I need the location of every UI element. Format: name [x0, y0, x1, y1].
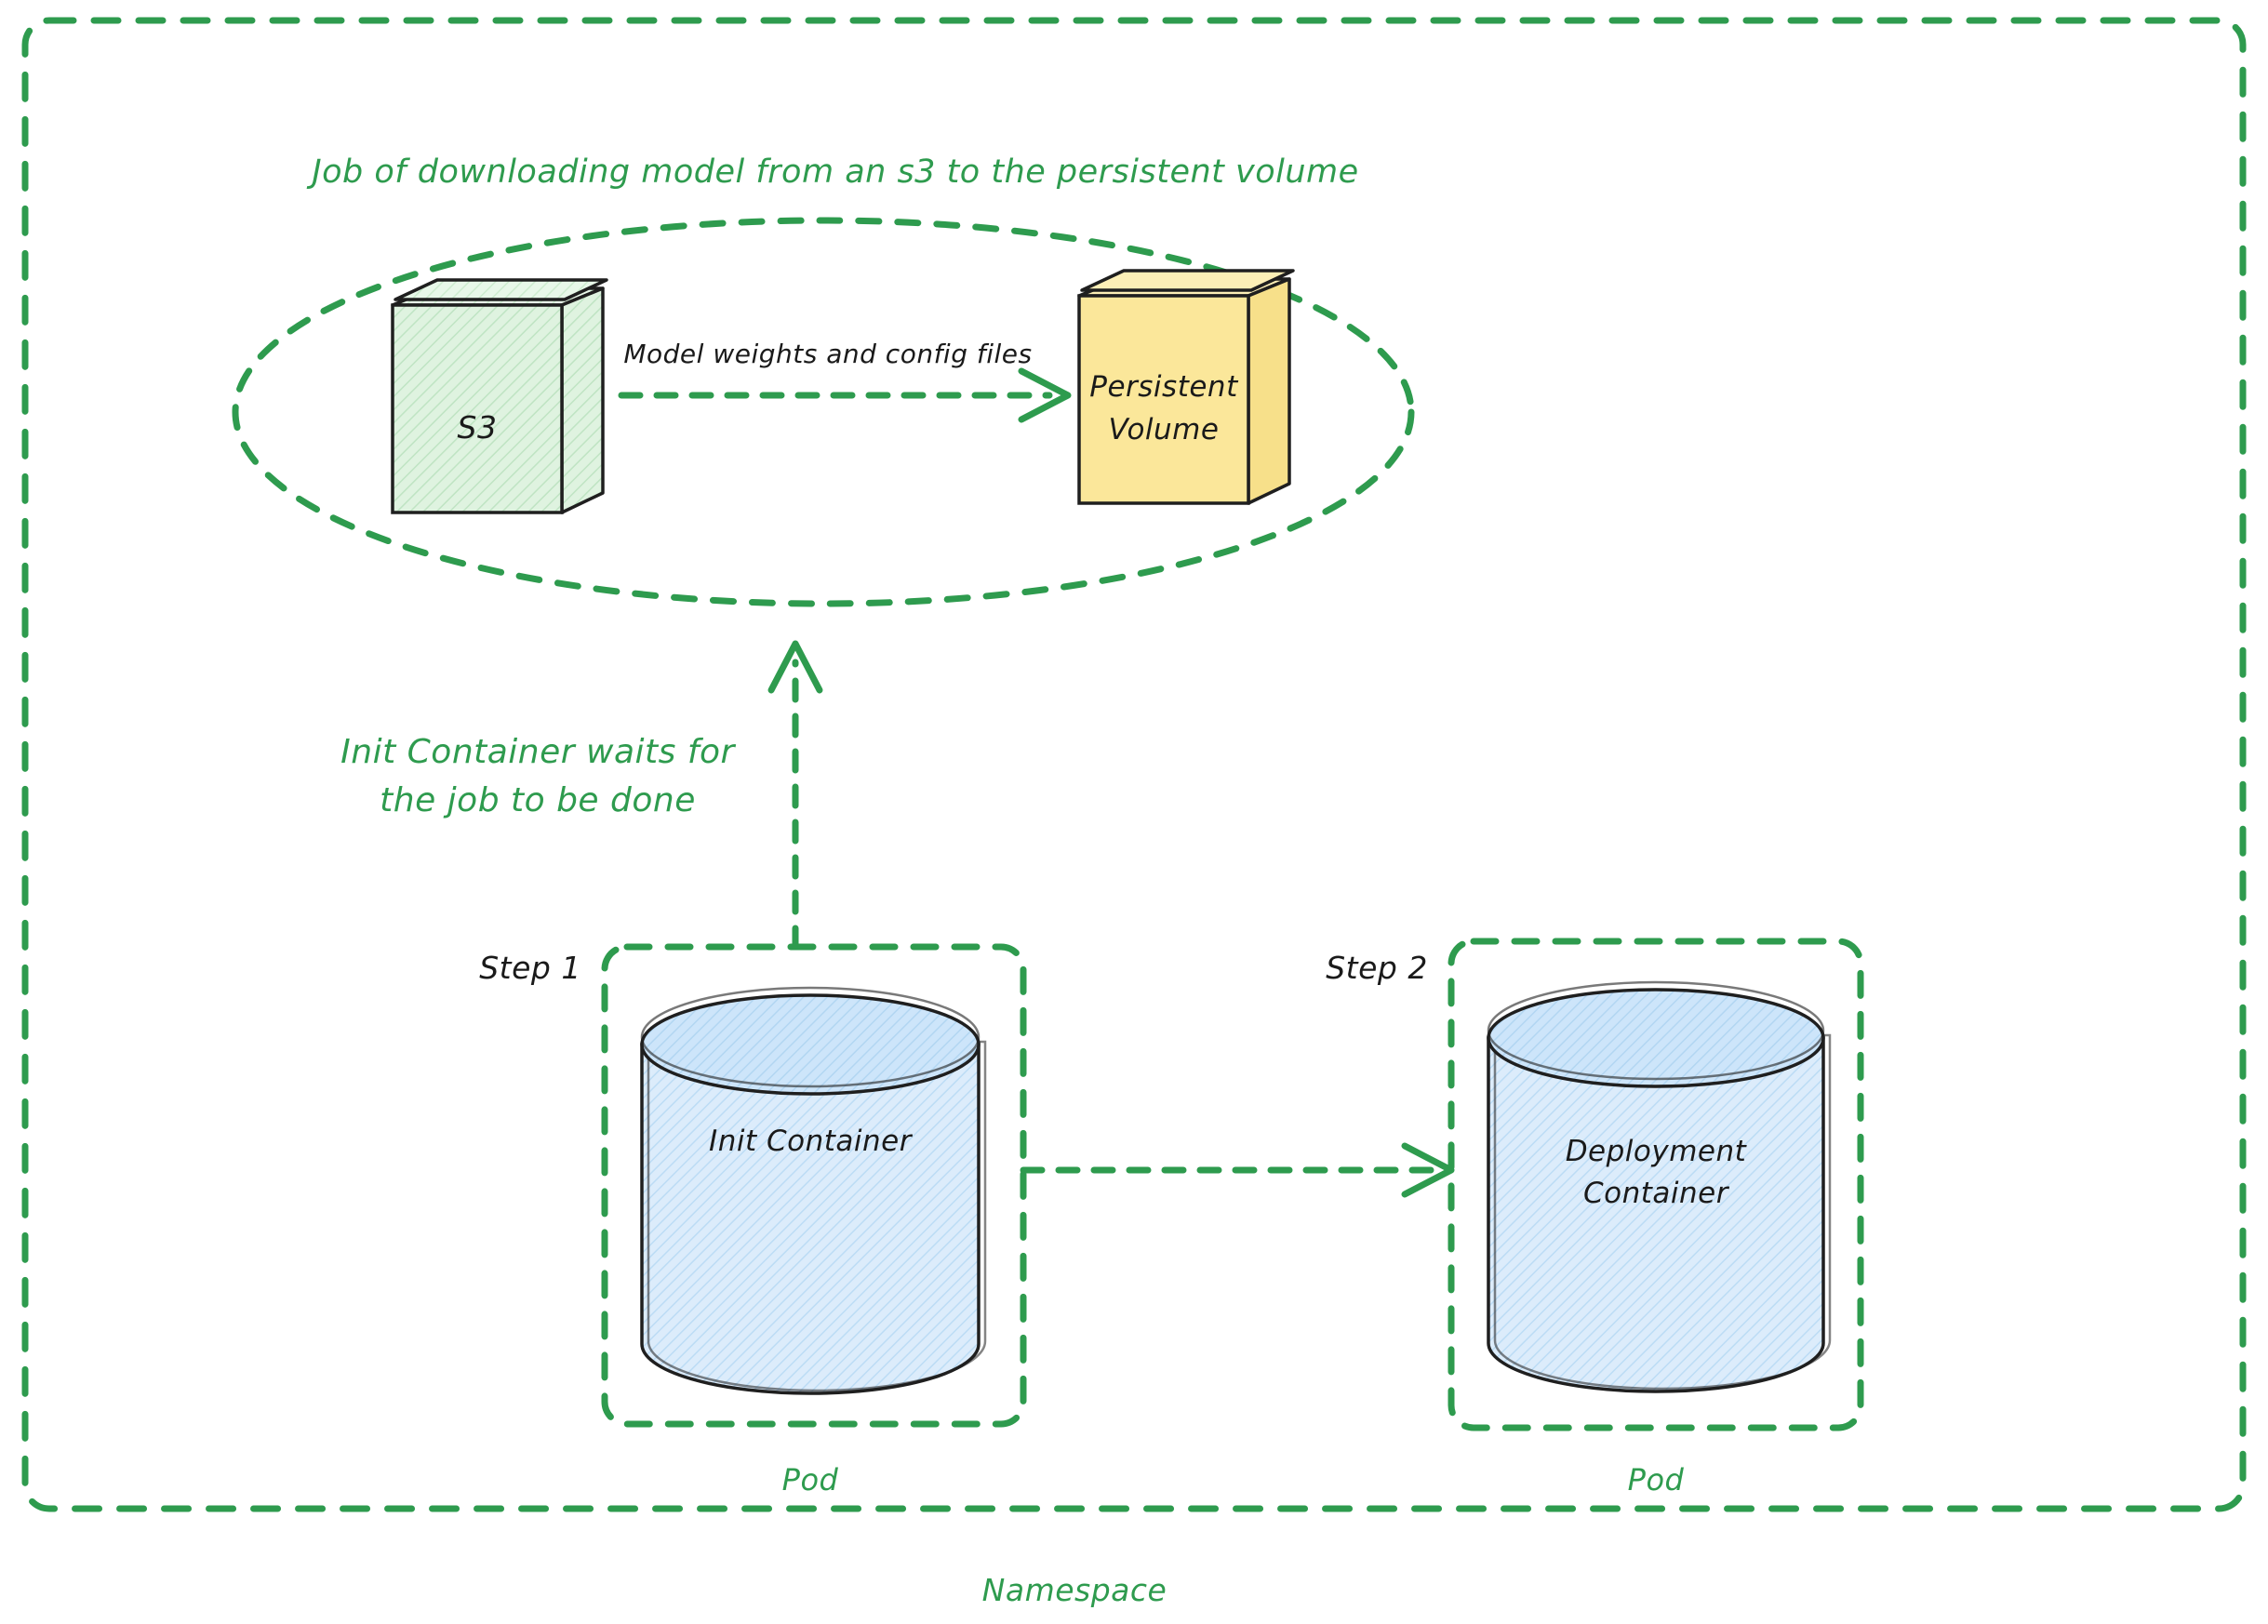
- model-weights-arrow: [621, 371, 1068, 419]
- s3-cube: [393, 280, 607, 512]
- persistent-volume-cube: [1079, 271, 1293, 503]
- init-container-cylinder: [642, 988, 985, 1393]
- init-container-wait-arrow: [771, 644, 820, 947]
- pod-flow-arrow: [1023, 1146, 1451, 1194]
- deployment-container-cylinder: [1488, 982, 1830, 1391]
- diagram-canvas: Job of downloading model from an s3 to t…: [0, 0, 2268, 1624]
- diagram-graphics: [0, 0, 2268, 1624]
- namespace-boundary: [25, 20, 2243, 1509]
